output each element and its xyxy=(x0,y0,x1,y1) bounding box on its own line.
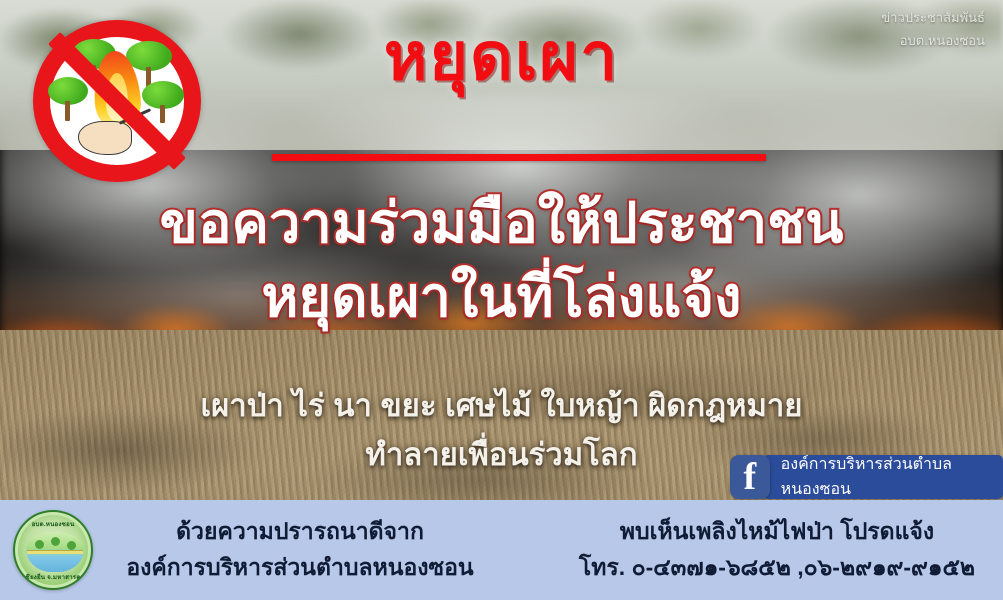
main-message-line-2: หยุดเผาในที่โล่งแจ้ง xyxy=(0,260,1003,334)
red-divider-line xyxy=(272,154,766,161)
main-message-line-1: ขอความร่วมมือให้ประชาชน xyxy=(0,186,1003,260)
facebook-f-icon[interactable] xyxy=(730,455,770,499)
seal-top-text: อบต.หนองซอน xyxy=(15,519,91,529)
main-message: ขอความร่วมมือให้ประชาชน หยุดเผาในที่โล่ง… xyxy=(0,186,1003,334)
seal-bridge xyxy=(27,550,83,554)
facebook-page-name[interactable]: องค์การบริหารส่วนตำบลหนองซอน xyxy=(763,455,1003,499)
hand-icon xyxy=(78,121,132,155)
seal-tree-icon xyxy=(35,540,44,549)
footer-bar: อบต.หนองซอน อ.เชียงยืน จ.มหาสารคาม ด้วยค… xyxy=(0,500,1003,600)
footer-greeting-line-1: ด้วยความปรารถนาดีจาก xyxy=(176,514,424,550)
footer-greeting: ด้วยความปรารถนาดีจาก องค์การบริหารส่วนตำ… xyxy=(100,500,500,600)
fire-prevention-poster: ข่าวประชาสัมพันธ์ อบต.หนองซอน หยุดเผา ขอ… xyxy=(0,0,1003,600)
footer-contact-line-1: พบเห็นเพลิงไหม้ไฟป่า โปรดแจ้ง xyxy=(620,514,934,550)
municipality-seal-logo: อบต.หนองซอน อ.เชียงยืน จ.มหาสารคาม xyxy=(13,510,93,590)
seal-bottom-text: อ.เชียงยืน จ.มหาสารคาม xyxy=(15,572,91,582)
footer-contact: พบเห็นเพลิงไหม้ไฟป่า โปรดแจ้ง โทร. ๐-๔๓๗… xyxy=(557,500,997,600)
footer-greeting-line-2: องค์การบริหารส่วนตำบลหนองซอน xyxy=(126,550,473,586)
headline-stop-burning: หยุดเผา xyxy=(0,22,1003,91)
sub-message-line-1: เผาป่า ไร่ นา ขยะ เศษไม้ ใบหญ้า ผิดกฎหมา… xyxy=(0,382,1003,431)
facebook-page-badge[interactable]: องค์การบริหารส่วนตำบลหนองซอน xyxy=(730,455,1003,499)
footer-contact-phone: โทร. ๐-๔๓๗๑-๖๘๕๒ ,๐๖-๒๙๑๙-๙๑๕๒ xyxy=(579,550,975,586)
seal-tree-icon xyxy=(67,541,76,550)
seal-tree-icon xyxy=(51,537,60,546)
